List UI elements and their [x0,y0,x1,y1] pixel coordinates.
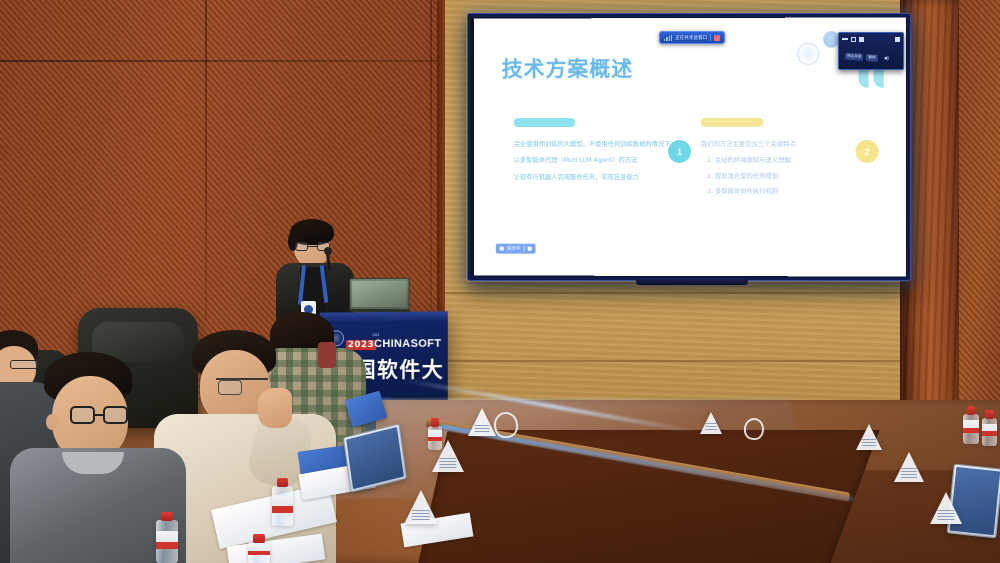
laptop-screen [352,281,406,307]
banner-superscript: 2023 [372,333,379,337]
presentation-status-icon [500,247,504,251]
wall-seam [430,0,432,340]
signal-bars-icon [664,35,672,41]
wall-seam [443,292,910,294]
bottle-cap [277,478,289,487]
water-bottle[interactable] [156,512,178,563]
column-2-body: 我们的方法主要包含三个关键特点： 主动的环境感知与语义理解 双层混合型的任务规划… [701,139,877,198]
conference-room-scene: 技术方案概述 完全使用预训练的大模型，不使用任何训练数据的情况下， 以多智能体代… [0,0,1000,563]
column-1-body: 完全使用预训练的大模型，不使用任何训练数据的情况下， 以多智能体代理（Muti … [514,139,688,184]
slide-column-1: 完全使用预训练的大模型，不使用任何训练数据的情况下， 以多智能体代理（Muti … [514,118,688,188]
maximize-icon[interactable] [859,37,864,42]
screen-share-status-bar[interactable]: 正在共享此窗口 [659,31,725,44]
column-1-paragraph: 让现有行机器人完成服务任务，实现自身能力 [514,171,688,183]
stop-share-button[interactable]: 停止共享 [845,52,864,60]
eyeglasses-icon [70,406,128,424]
name-card-holder [894,452,924,482]
share-status-label: 正在共享此窗口 [675,35,707,41]
wall-seam [0,60,470,62]
water-bottle[interactable] [272,478,293,526]
status-badge: 演示中 [496,244,536,254]
list-item: 双层混合型的任务规划 [715,171,877,183]
presenter-laptop[interactable] [349,278,409,313]
water-bottle[interactable] [963,406,979,444]
accent-bar [514,118,576,127]
column-2-paragraph: 我们的方法主要包含三个关键特点： [701,139,877,151]
divider [523,246,524,252]
list-item: 主动的环境感知与语义理解 [715,155,877,167]
quotation-mark-icon [859,70,884,88]
slide-columns: 完全使用预训练的大模型，不使用任何训练数据的情况下， 以多智能体代理（Muti … [474,118,906,239]
watermark-seal-icon [797,43,819,65]
status-badge-label: 演示中 [507,246,521,252]
volume-icon[interactable]: ◀) [883,55,889,61]
column-1-paragraph: 以多智能体代理（Muti LLM Agent）的方法 [514,155,688,167]
pause-share-button[interactable]: 暂停 [866,54,878,62]
slide-column-2: 我们的方法主要包含三个关键特点： 主动的环境感知与语义理解 双层混合型的任务规划… [701,118,877,201]
divider [710,34,711,41]
bottle-cap [161,512,173,521]
presentation-status-icon [527,247,531,251]
accent-bar [701,118,763,127]
column-1-number-badge: 1 [668,140,691,163]
conference-table-front-panel [413,430,879,563]
name-card-holder [856,424,882,450]
toolbar-window-controls[interactable] [842,35,900,43]
list-item: 多智能体协作执行机制 [715,186,877,198]
ear [46,414,58,430]
page-title: 技术方案概述 [502,53,633,83]
bottle-cap [431,418,439,427]
minimize-icon[interactable] [842,38,848,40]
wall-seam [205,0,207,320]
name-card-holder [468,408,496,436]
grid-view-icon[interactable] [895,37,900,42]
name-card-holder [700,412,722,434]
meeting-floating-toolbar[interactable]: 停止共享 暂停 ◀) [838,32,904,70]
audience-member-gray-sweater [18,352,178,563]
column-1-paragraph: 完全使用预训练的大模型，不使用任何训练数据的情况下， [514,139,688,151]
eyeglasses-icon [216,378,268,392]
water-bottle[interactable] [982,410,997,446]
wall-seam [443,360,910,362]
name-card-holder [930,492,962,524]
name-card-holder [404,490,438,524]
toolbar-actions[interactable]: 停止共享 暂停 ◀) [841,44,862,67]
banner-brand-en: CHINASOFT [374,338,441,350]
bottle-cap [967,406,976,415]
water-bottle[interactable] [428,418,442,450]
hand [258,388,292,428]
display-mount [636,279,748,285]
column-2-list: 主动的环境感知与语义理解 双层混合型的任务规划 多智能体协作执行机制 [715,155,877,198]
water-bottle[interactable] [248,534,270,563]
pin-icon[interactable] [714,35,720,41]
gooseneck-microphone-icon [324,247,332,255]
column-2-number-badge: 2 [855,140,878,163]
restore-window-icon[interactable] [851,37,856,42]
bottle-cap [253,534,265,543]
bottle-cap [985,410,993,419]
